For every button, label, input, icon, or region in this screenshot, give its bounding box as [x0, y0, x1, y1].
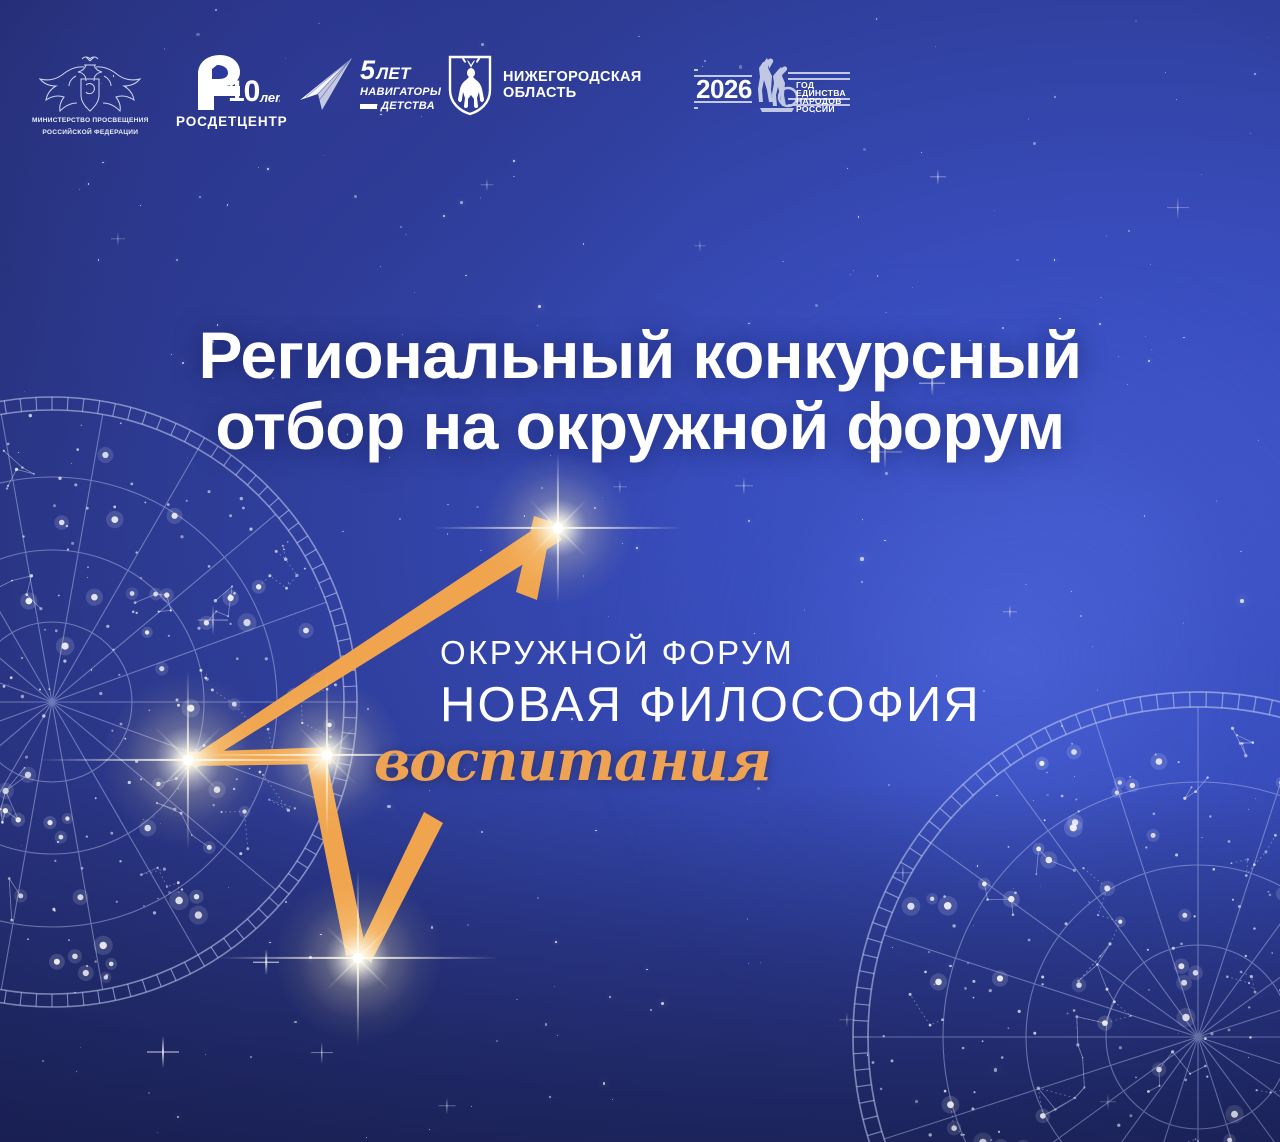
background-vignette	[0, 0, 1280, 1142]
poster-canvas: МИНИСТЕРСТВО ПРОСВЕЩЕНИЯ РОССИЙСКОЙ ФЕДЕ…	[0, 0, 1280, 1142]
